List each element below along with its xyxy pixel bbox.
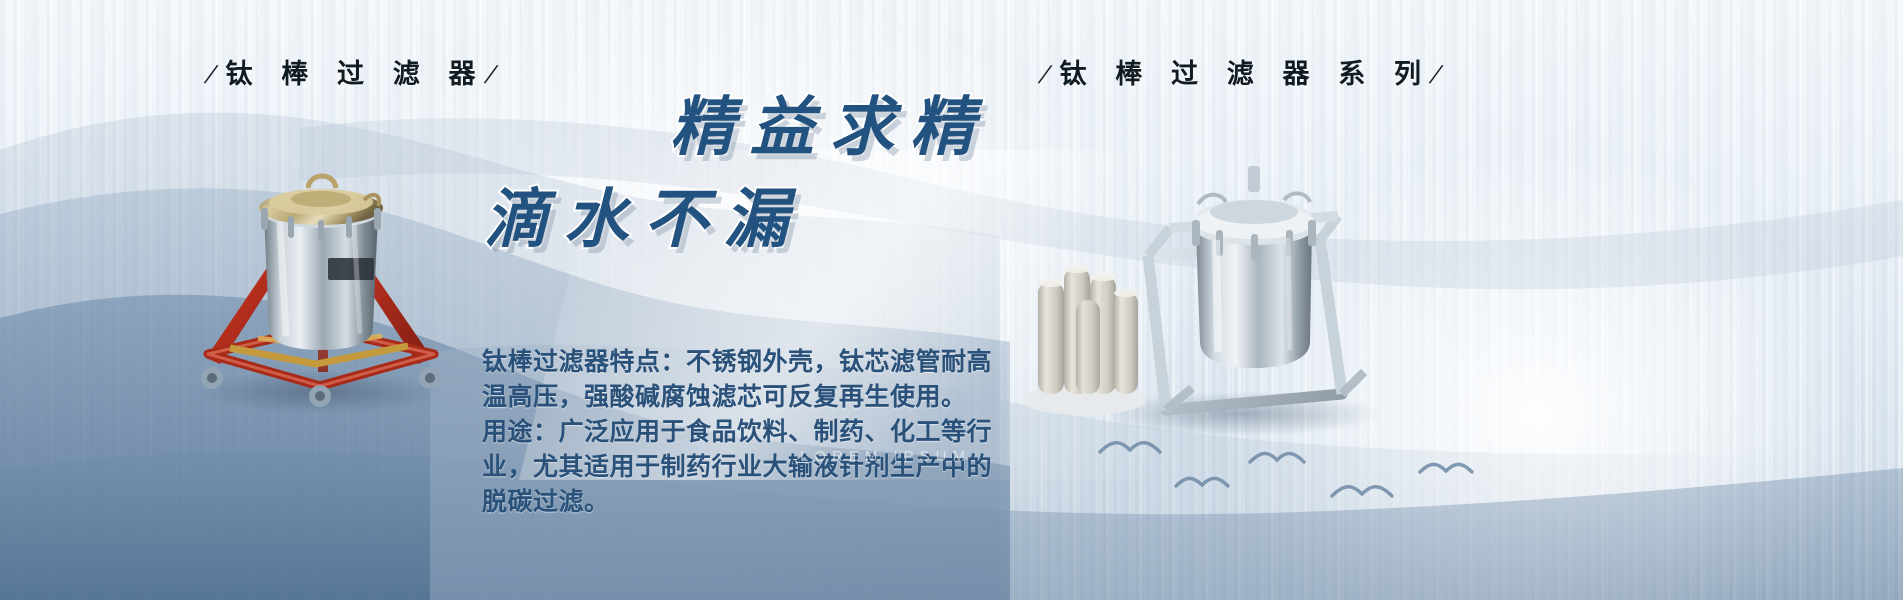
tag-left-label: 钛 棒 过 滤 器	[226, 59, 487, 89]
tag-bar-right-end: /	[1429, 59, 1454, 90]
left-product-image	[168, 96, 468, 416]
body-line: 脱碳过滤。	[482, 485, 998, 520]
headline-line-2: 滴水不漏	[478, 174, 998, 266]
right-tag: /钛 棒 过 滤 器 系 列/	[1041, 52, 1451, 91]
tag-right-label: 钛 棒 过 滤 器 系 列	[1060, 59, 1433, 89]
body-line: 业，尤其适用于制药行业大输液针剂生产中的	[482, 450, 998, 485]
body-line: 温高压，强酸碱腐蚀滤芯可反复再生使用。	[482, 380, 998, 415]
body-copy: 钛棒过滤器特点：不锈钢外壳，钛芯滤管耐高 温高压，强酸碱腐蚀滤芯可反复再生使用。…	[482, 345, 998, 520]
right-product-image	[1020, 80, 1410, 460]
headline-line-1: 精益求精	[478, 82, 998, 174]
left-tag: /钛 棒 过 滤 器/	[207, 52, 505, 91]
body-line: 钛棒过滤器特点：不锈钢外壳，钛芯滤管耐高	[482, 345, 998, 380]
product-banner: /钛 棒 过 滤 器/ /钛 棒 过 滤 器 系 列/ 精益求精 滴水不漏 钛棒…	[0, 0, 1903, 600]
body-line: 用途：广泛应用于食品饮料、制药、化工等行	[482, 415, 998, 450]
headline: 精益求精 滴水不漏	[478, 82, 998, 266]
